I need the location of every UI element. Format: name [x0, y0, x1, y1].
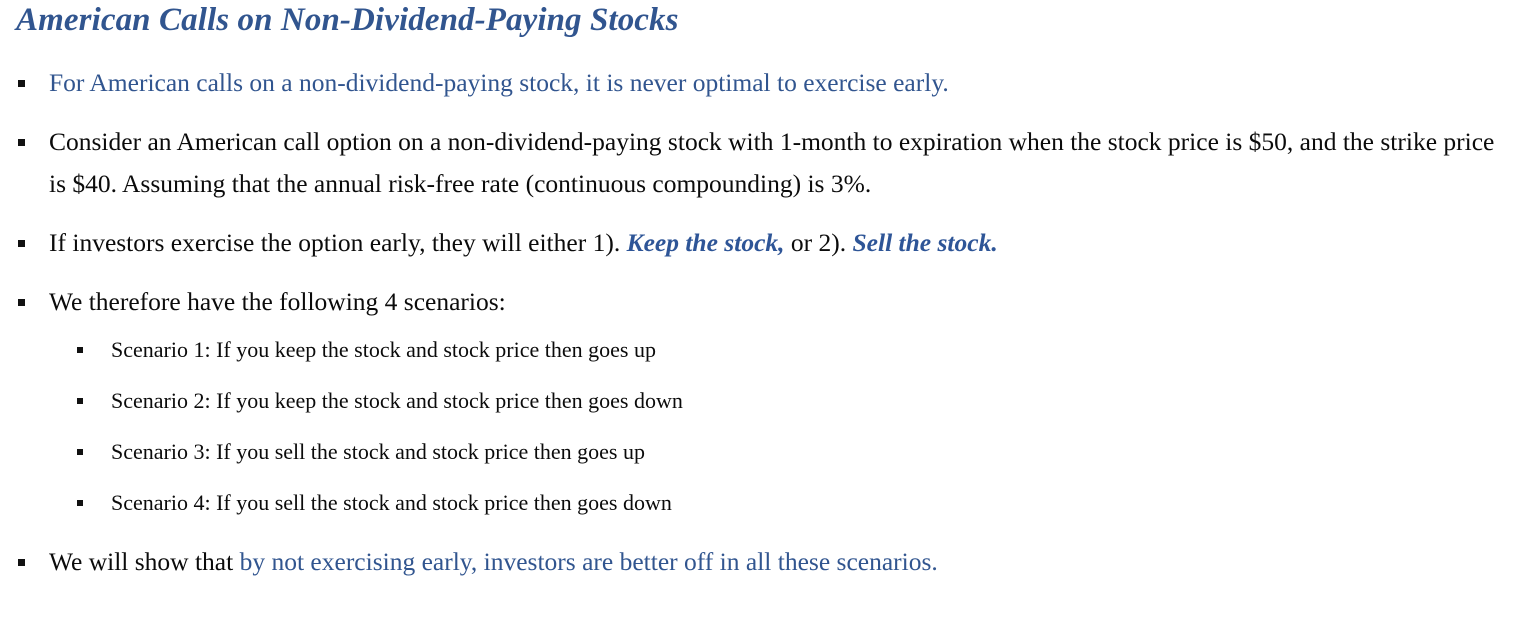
slide-canvas: American Calls on Non-Dividend-Paying St… [0, 0, 1513, 628]
bullet-text-conclusion-prefix: We will show that [49, 547, 240, 576]
list-item-scenario-2: Scenario 2: If you keep the stock and st… [49, 377, 1500, 424]
square-bullet-icon [18, 299, 25, 306]
square-bullet-icon [77, 500, 83, 506]
scenario-2-label: Scenario 2: If you keep the stock and st… [111, 388, 683, 413]
scenario-1-label: Scenario 1: If you keep the stock and st… [111, 337, 656, 362]
square-bullet-icon [77, 347, 83, 353]
bullet-text-never-optimal: For American calls on a non-dividend-pay… [49, 68, 949, 97]
list-item-scenario-3: Scenario 3: If you sell the stock and st… [49, 428, 1500, 475]
scenario-4-label: Scenario 4: If you sell the stock and st… [111, 490, 672, 515]
list-item-scenario-1: Scenario 1: If you keep the stock and st… [49, 326, 1500, 373]
emphasis-sell-the-stock: Sell the stock. [853, 228, 998, 257]
bullet-text-four-scenarios: We therefore have the following 4 scenar… [49, 287, 506, 316]
bullet-text-conclusion-highlight: by not exercising early, investors are b… [240, 547, 938, 576]
bullet-text-early-exercise-or: or 2). [785, 228, 853, 257]
scenario-list: Scenario 1: If you keep the stock and st… [49, 326, 1500, 526]
square-bullet-icon [77, 449, 83, 455]
square-bullet-icon [18, 559, 25, 566]
bullet-item-four-scenarios: We therefore have the following 4 scenar… [0, 281, 1500, 526]
bullet-text-example-setup: Consider an American call option on a no… [49, 127, 1494, 198]
bullet-item-early-exercise-choices: If investors exercise the option early, … [0, 222, 1500, 264]
square-bullet-icon [18, 80, 25, 87]
bullet-item-never-optimal: For American calls on a non-dividend-pay… [0, 62, 1500, 104]
bullet-item-conclusion: We will show that by not exercising earl… [0, 541, 1500, 583]
emphasis-keep-the-stock: Keep the stock, [627, 228, 785, 257]
page-title: American Calls on Non-Dividend-Paying St… [16, 2, 679, 39]
square-bullet-icon [18, 240, 25, 247]
bullet-item-example-setup: Consider an American call option on a no… [0, 121, 1500, 205]
list-item-scenario-4: Scenario 4: If you sell the stock and st… [49, 479, 1500, 526]
square-bullet-icon [18, 139, 25, 146]
bullet-list: For American calls on a non-dividend-pay… [0, 62, 1500, 600]
scenario-3-label: Scenario 3: If you sell the stock and st… [111, 439, 645, 464]
square-bullet-icon [77, 398, 83, 404]
bullet-text-early-exercise-intro: If investors exercise the option early, … [49, 228, 627, 257]
